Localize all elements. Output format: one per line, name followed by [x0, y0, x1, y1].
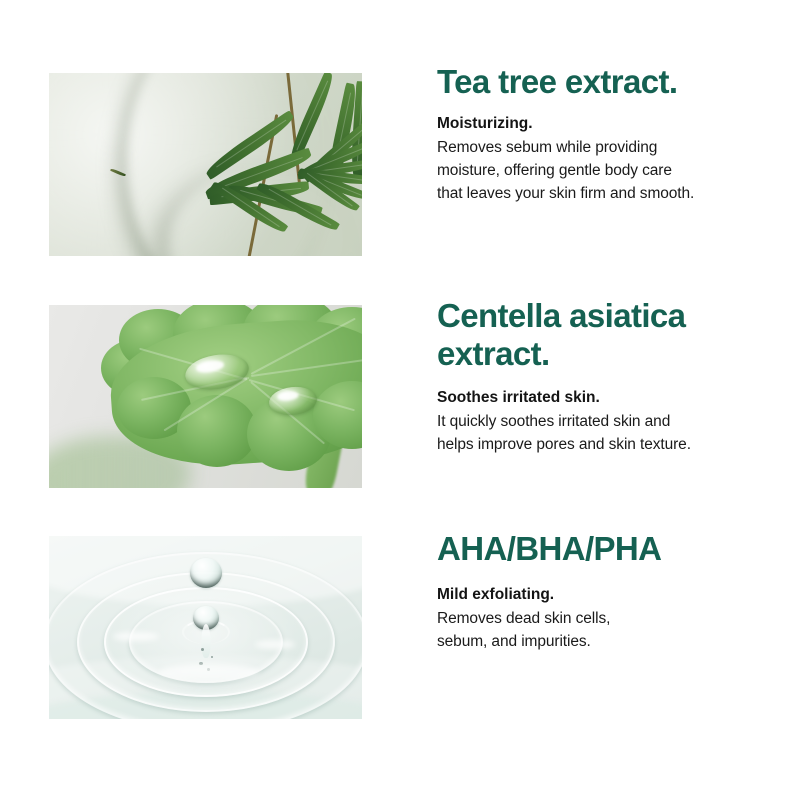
water-falling-droplet — [190, 558, 222, 588]
aha-bha-pha-text-column: AHA/BHA/PHA Mild exfoliating. Removes de… — [437, 536, 765, 653]
water-droplet-ripple-photo — [49, 536, 362, 719]
section-tea-tree: Tea tree extract. Moisturizing. Removes … — [49, 73, 765, 256]
tea-tree-heading: Tea tree extract. — [437, 63, 765, 101]
centella-text-column: Centella asiatica extract. Soothes irrit… — [437, 305, 765, 456]
aha-bha-pha-heading: AHA/BHA/PHA — [437, 530, 765, 568]
centella-leaf-photo — [49, 305, 362, 488]
water-splash-column — [201, 624, 210, 658]
ingredient-benefits-infographic: Tea tree extract. Moisturizing. Removes … — [0, 0, 800, 800]
tea-tree-description: Removes sebum while providing moisture, … — [437, 136, 765, 205]
tea-tree-text-column: Tea tree extract. Moisturizing. Removes … — [437, 73, 765, 205]
centella-subtitle: Soothes irritated skin. — [437, 387, 765, 409]
tea-tree-leaf-cluster — [49, 73, 362, 256]
centella-heading: Centella asiatica extract. — [437, 297, 765, 373]
section-aha-bha-pha: AHA/BHA/PHA Mild exfoliating. Removes de… — [49, 536, 765, 719]
aha-bha-pha-description: Removes dead skin cells, sebum, and impu… — [437, 607, 765, 653]
centella-leaf — [101, 311, 362, 481]
aha-bha-pha-subtitle: Mild exfoliating. — [437, 584, 765, 606]
tea-tree-leaves-photo — [49, 73, 362, 256]
tea-tree-subtitle: Moisturizing. — [437, 113, 765, 135]
centella-description: It quickly soothes irritated skin and he… — [437, 410, 765, 456]
section-centella-asiatica: Centella asiatica extract. Soothes irrit… — [49, 305, 765, 488]
